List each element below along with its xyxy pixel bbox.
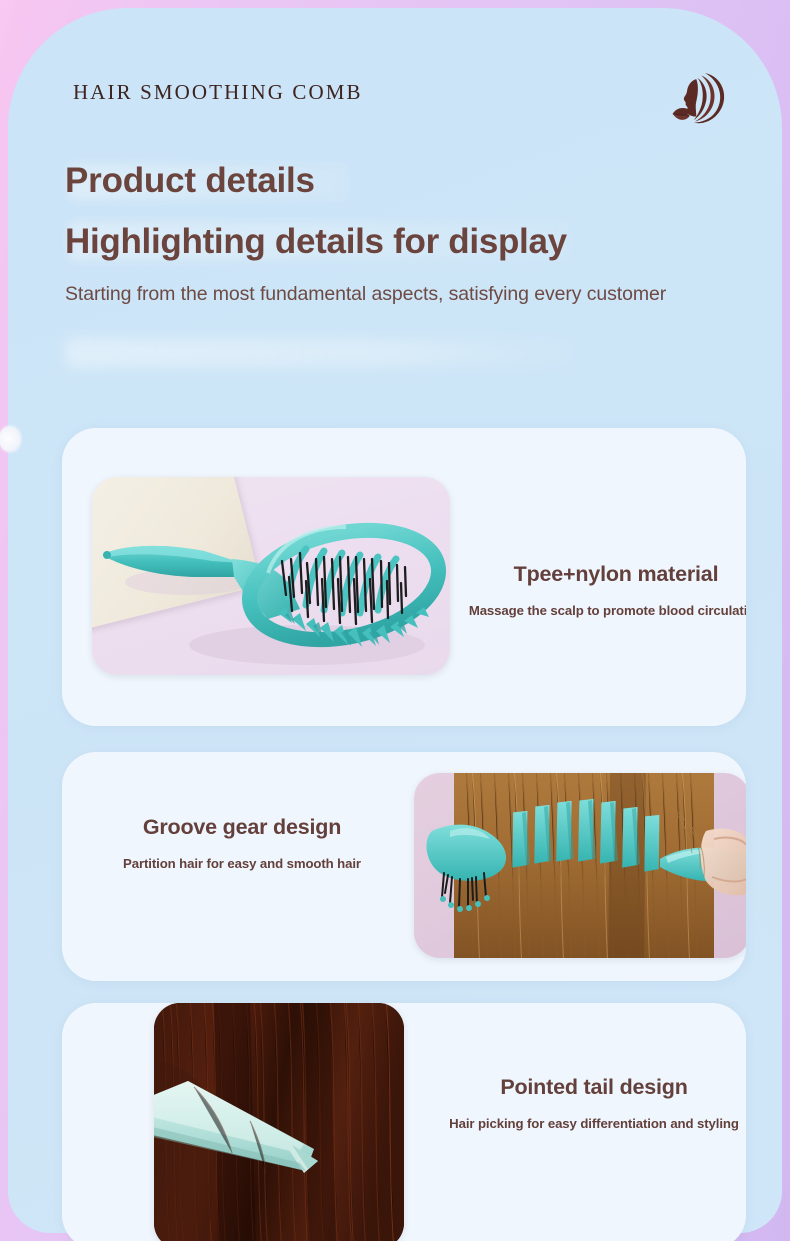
card-text-block: Groove gear design Partition hair for ea… xyxy=(82,815,402,871)
card-title: Groove gear design xyxy=(82,815,402,840)
page-header: HAIR SMOOTHING COMB xyxy=(8,8,782,158)
left-edge-notch xyxy=(0,426,21,452)
brush-combing-through-brown-hair-image xyxy=(414,773,746,958)
page-tagline: Starting from the most fundamental aspec… xyxy=(65,281,765,307)
teal-detangling-brush-on-lavender-desk-image xyxy=(92,477,450,675)
brand-eyebrow-text: HAIR SMOOTHING COMB xyxy=(73,80,363,105)
product-detail-page: HAIR SMOOTHING COMB xyxy=(0,0,790,1241)
card-text-block: Pointed tail design Hair picking for eas… xyxy=(434,1075,746,1131)
tagline-glow xyxy=(65,338,575,368)
card-description: Massage the scalp to promote blood circu… xyxy=(466,603,746,618)
card-description: Partition hair for easy and smooth hair xyxy=(82,856,402,871)
card-description: Hair picking for easy differentiation an… xyxy=(434,1116,746,1131)
page-title: Product details xyxy=(65,160,765,202)
card-title: Pointed tail design xyxy=(434,1075,746,1100)
woman-hair-leaf-logo xyxy=(669,68,731,130)
pointed-tail-handle-on-dark-brown-hair-image xyxy=(154,1003,404,1241)
content-panel: HAIR SMOOTHING COMB xyxy=(8,8,782,1233)
card-text-block: Tpee+nylon material Massage the scalp to… xyxy=(466,562,746,618)
feature-card-pointed-tail[interactable]: Pointed tail design Hair picking for eas… xyxy=(62,1003,746,1241)
page-subtitle-heading: Highlighting details for display xyxy=(65,220,765,264)
feature-card-groove-gear[interactable]: Groove gear design Partition hair for ea… xyxy=(62,752,746,981)
headline-block: Product details Highlighting details for… xyxy=(65,160,765,307)
card-title: Tpee+nylon material xyxy=(466,562,746,587)
feature-card-tpee-nylon[interactable]: Tpee+nylon material Massage the scalp to… xyxy=(62,428,746,726)
